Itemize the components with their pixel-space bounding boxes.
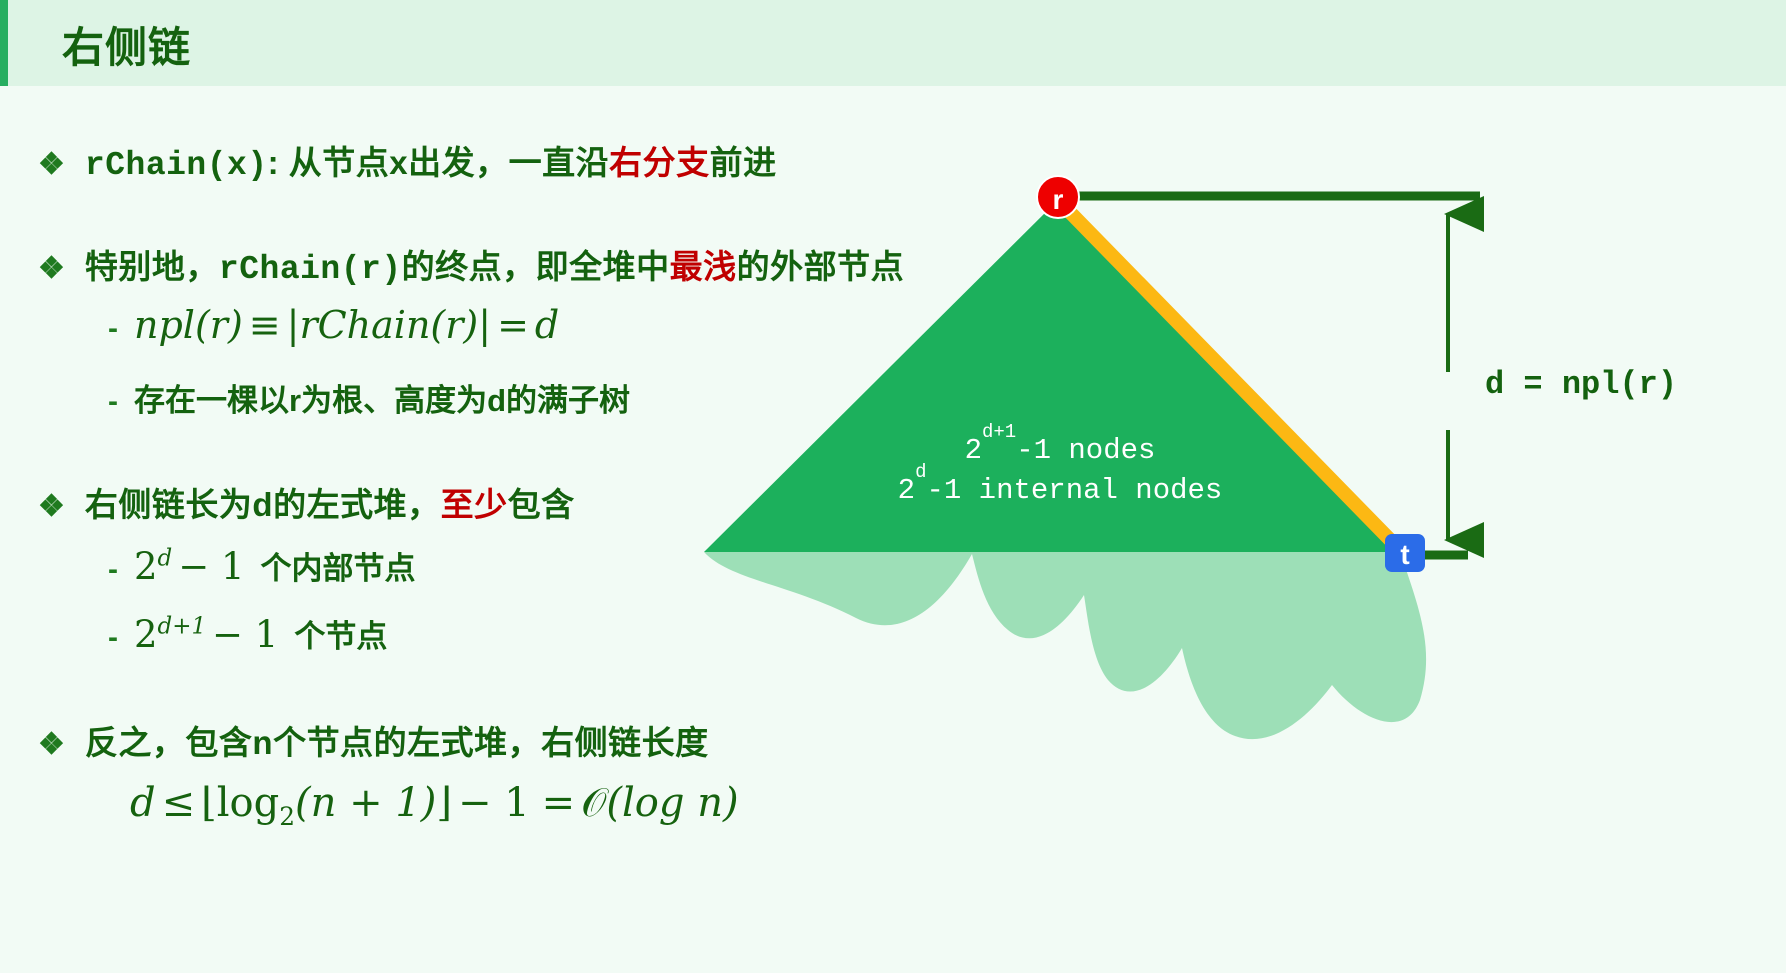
bullet-2-part-1: rChain(r) xyxy=(219,251,402,288)
math-total-nodes: 2d+1− 1 xyxy=(134,613,284,656)
sub-dash-marker: - xyxy=(108,621,118,655)
subitem-bound-formula: d≤⌊log2(n + 1)⌋− 1=𝒪(log n) xyxy=(130,780,739,826)
math-floor-close: ⌋ xyxy=(436,780,452,826)
count-1-exp: d+1 xyxy=(982,421,1016,443)
bullet-min-nodes: ❖ 右侧链长为d的左式堆，至少包含 xyxy=(38,478,575,526)
subitem-internal-nodes: - 2d− 1 个内部节点 xyxy=(108,543,416,588)
math-log-base: 2 xyxy=(279,802,295,831)
math-equiv-op: ≡ xyxy=(243,303,287,347)
leftist-heap-diagram: d = npl(r) 2d+1-1 nodes 2d-1 internal no… xyxy=(660,140,1786,800)
count-2-rest: -1 internal nodes xyxy=(926,474,1222,507)
math-internal-nodes: 2d− 1 xyxy=(134,545,251,588)
subitem-full-subtree: - 存在一棵以r为根、高度为d的满子树 xyxy=(108,375,630,420)
slide-root: 右侧链 ❖ rChain(x): 从节点x出发，一直沿右分支前进 ❖ 特别地，r… xyxy=(0,0,1786,973)
lower-heap-blob xyxy=(704,552,1426,739)
page-title: 右侧链 xyxy=(62,14,191,75)
math-minus-one: − 1 xyxy=(206,613,284,656)
slide-header-band xyxy=(0,0,1786,86)
dimension-label: d = npl(r) xyxy=(1485,366,1677,403)
bullet-4-text: 反之，包含n个节点的左式堆，右侧链长度 xyxy=(85,716,709,764)
root-node-label: r xyxy=(1053,184,1064,215)
bullet-3-part-2: 包含 xyxy=(508,486,575,523)
math-le-op: ≤ xyxy=(156,780,202,826)
math-floor-open: ⌊ xyxy=(201,780,217,826)
count-1-rest: -1 nodes xyxy=(1016,434,1155,467)
bullet-1-part-0: rChain(x) xyxy=(85,147,268,184)
count-2-exp: d xyxy=(915,461,926,483)
math-log-arg: (n + 1) xyxy=(295,780,436,826)
subitem-total-nodes-suffix: 个节点 xyxy=(294,611,387,656)
bullet-3-part-1: 至少 xyxy=(441,486,508,523)
bullet-marker-icon: ❖ xyxy=(38,492,65,522)
subitem-total-nodes: - 2d+1− 1 个节点 xyxy=(108,611,387,656)
target-node-label: t xyxy=(1400,539,1409,570)
sub-dash-marker: - xyxy=(108,312,118,346)
sub-dash-marker: - xyxy=(108,553,118,587)
count-1-base: 2 xyxy=(965,434,982,467)
math-npl-name: npl xyxy=(134,303,195,347)
bullet-converse-bound: ❖ 反之，包含n个节点的左式堆，右侧链长度 xyxy=(38,716,709,764)
bullet-marker-icon: ❖ xyxy=(38,254,65,284)
math-exponent: d xyxy=(158,546,173,572)
math-npl-equation: npl(r)≡|rChain(r)|=d xyxy=(134,303,559,347)
math-log: log xyxy=(217,780,279,826)
math-exponent: d+1 xyxy=(158,614,207,640)
bullet-marker-icon: ❖ xyxy=(38,150,65,180)
bullet-3-part-0: 右侧链长为d的左式堆， xyxy=(85,486,441,523)
math-base: 2 xyxy=(134,613,158,656)
subitem-internal-nodes-suffix: 个内部节点 xyxy=(261,543,416,588)
bullet-2-part-0: 特别地， xyxy=(85,248,219,285)
math-bar-close: | xyxy=(478,303,491,347)
bullet-marker-icon: ❖ xyxy=(38,730,65,760)
math-bound-minus-one: − 1 xyxy=(452,780,536,826)
subitem-full-subtree-text: 存在一棵以r为根、高度为d的满子树 xyxy=(134,375,630,420)
math-bar-open: | xyxy=(287,303,300,347)
math-bound-equation: d≤⌊log2(n + 1)⌋− 1=𝒪(log n) xyxy=(130,780,739,826)
sub-dash-marker: - xyxy=(108,385,118,419)
bullet-2-part-2: 的终点，即全堆中 xyxy=(402,248,670,285)
bullet-3-text: 右侧链长为d的左式堆，至少包含 xyxy=(85,478,575,526)
math-big-o: 𝒪 xyxy=(581,780,606,826)
math-base: 2 xyxy=(134,545,158,588)
math-bound-eq: = xyxy=(536,780,582,826)
math-minus-one: − 1 xyxy=(172,545,250,588)
math-eq-op: = xyxy=(491,303,535,347)
math-d-term: d xyxy=(535,303,559,347)
header-accent-bar xyxy=(0,0,8,86)
math-bound-d: d xyxy=(130,780,156,826)
subitem-npl-formula: - npl(r)≡|rChain(r)|=d xyxy=(108,303,559,347)
math-rchain-term: rChain(r) xyxy=(299,303,478,347)
count-2-base: 2 xyxy=(898,474,915,507)
math-npl-arg: (r) xyxy=(195,303,243,347)
bullet-1-part-1: : 从节点x出发，一直沿 xyxy=(268,144,610,181)
